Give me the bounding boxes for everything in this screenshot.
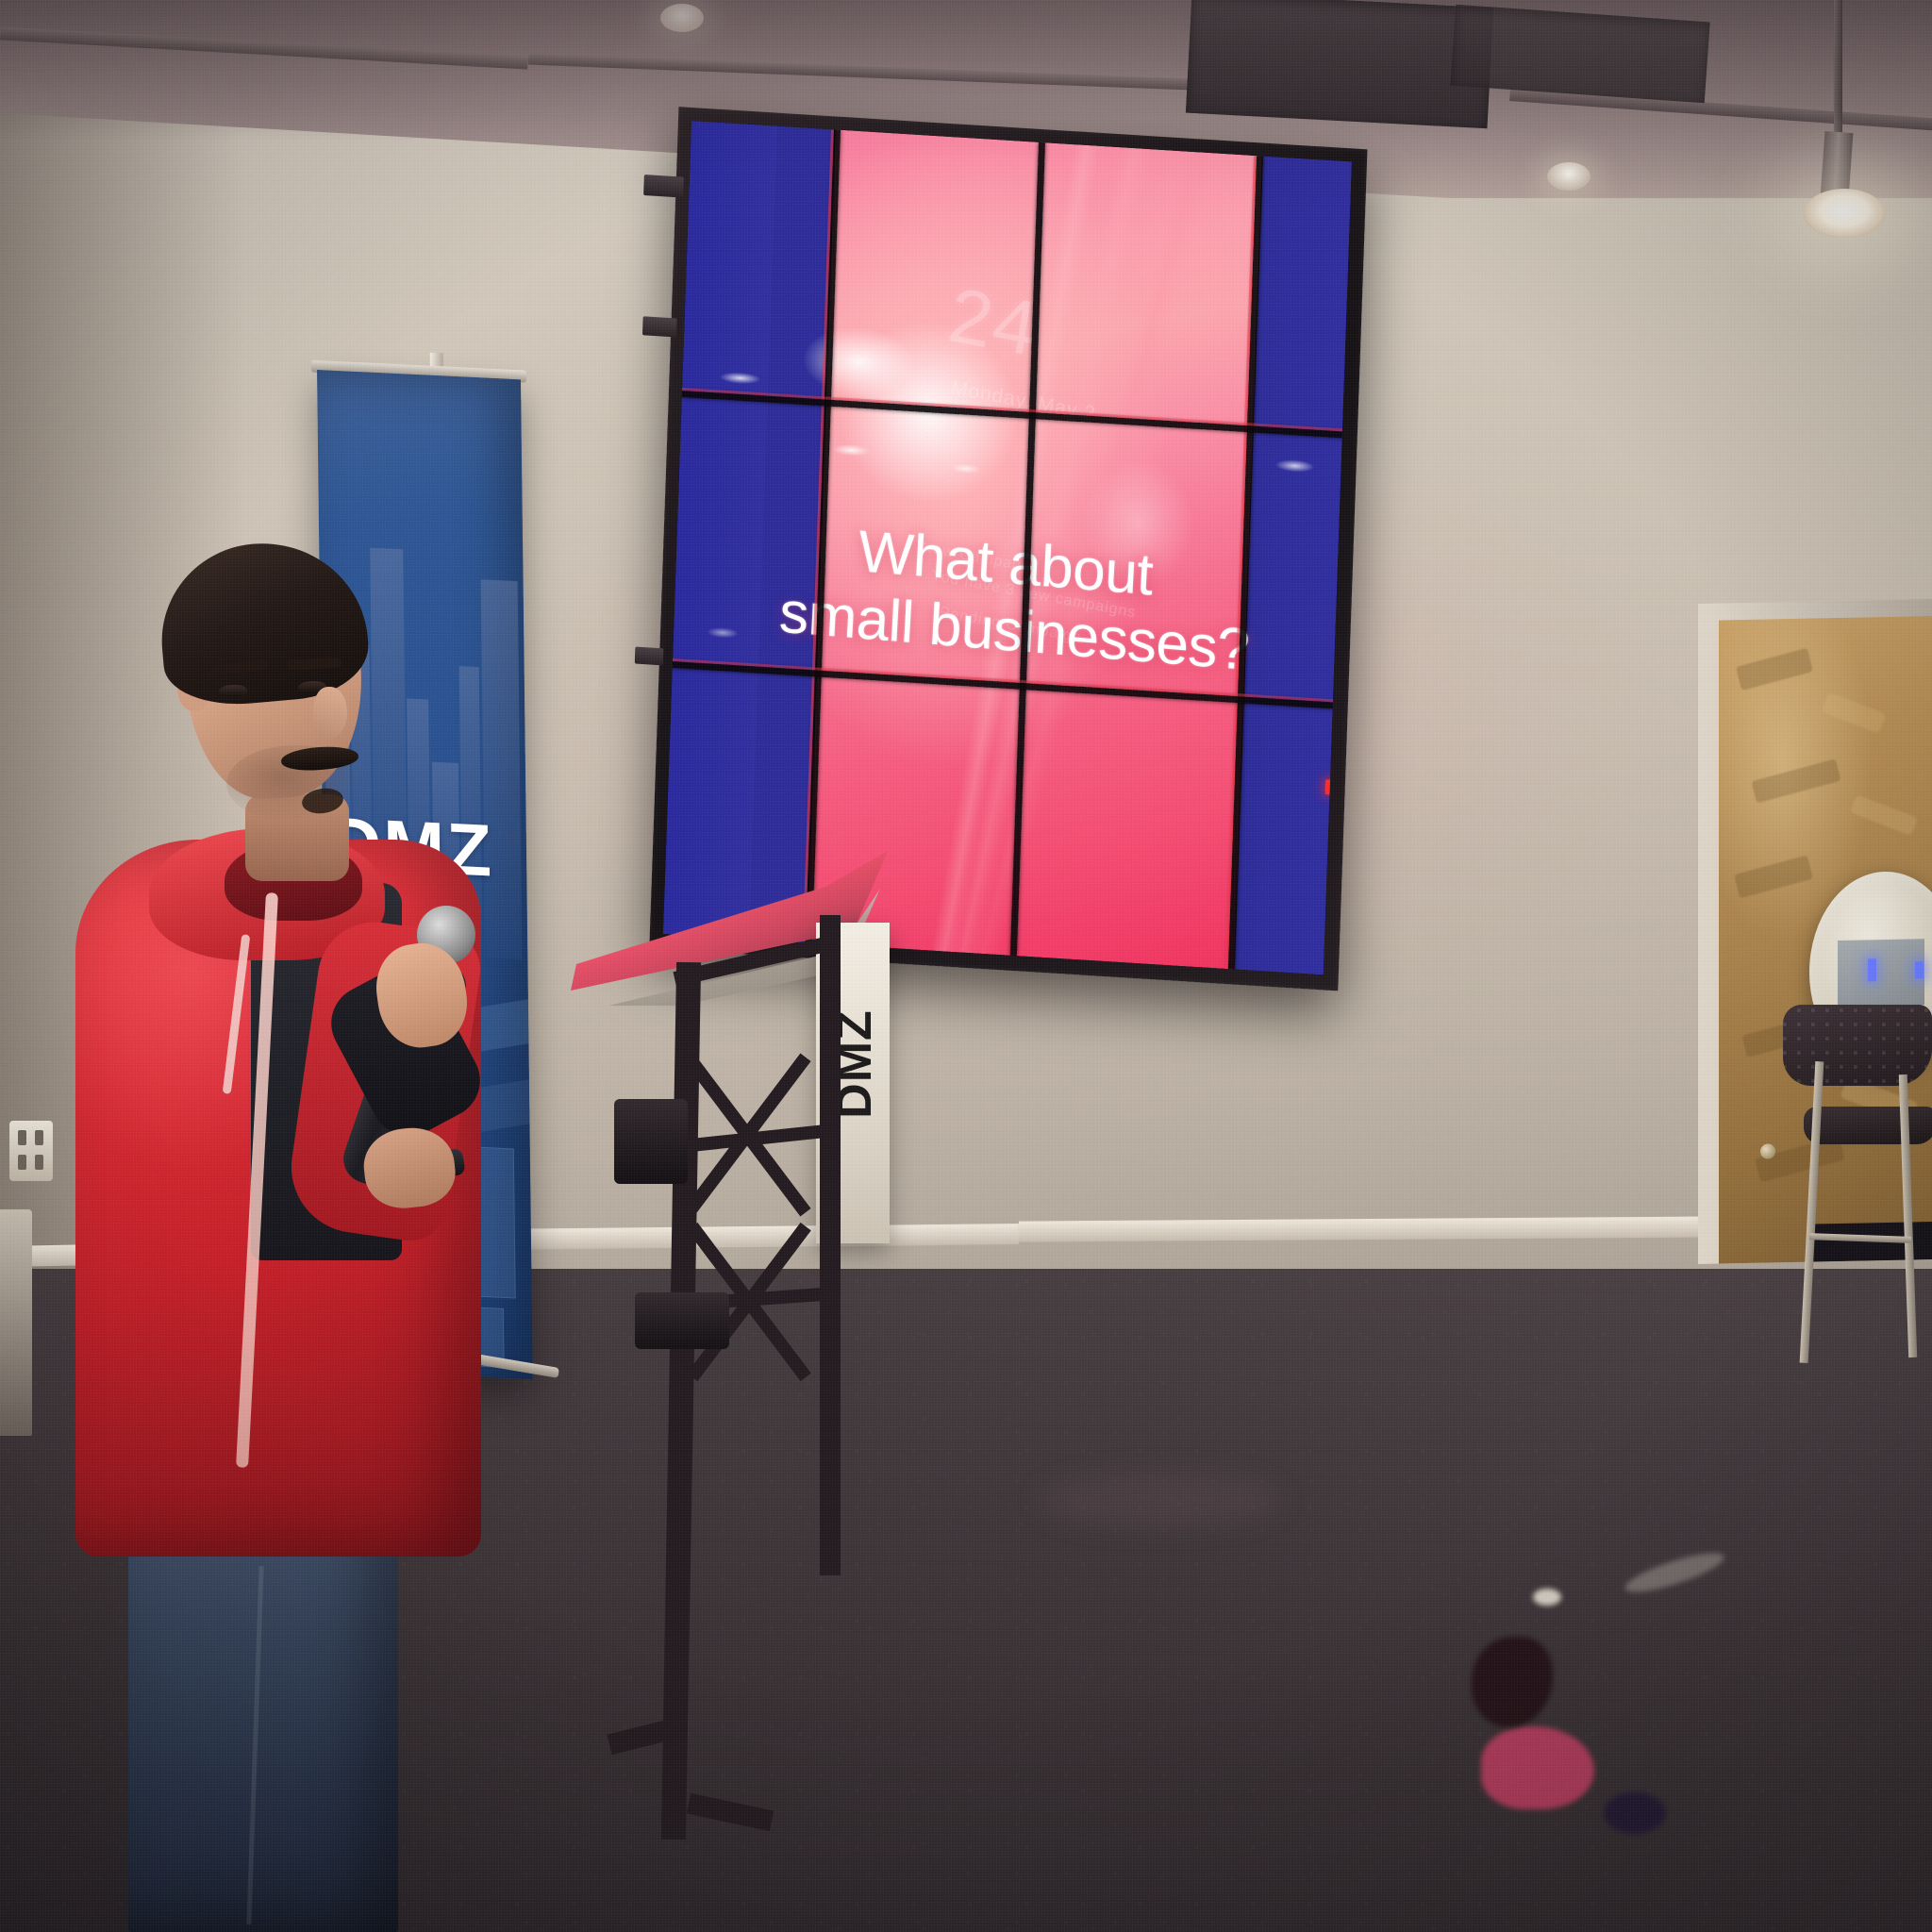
osb-chip: [1734, 855, 1813, 898]
presenter-eye-left: [219, 685, 247, 697]
slide-ghost-time: 24: [942, 271, 1043, 375]
lectern-post-right: [820, 915, 841, 1575]
ceiling-spotlight-secondary: [1547, 162, 1591, 191]
stool-seat: [1804, 1107, 1932, 1144]
lectern-foot-right: [687, 1793, 774, 1831]
screen-reflection-5: [1274, 458, 1314, 474]
lectern-base-plate: [635, 1292, 729, 1349]
presenter-jeans: [128, 1491, 398, 1932]
video-wall-mount-bracket-top: [643, 175, 684, 198]
door-porthole-led-2: [1915, 961, 1924, 978]
lectern-post-left: [661, 962, 701, 1840]
bar-stool[interactable]: [1783, 1005, 1932, 1373]
door-porthole-led-1: [1868, 958, 1876, 981]
osb-chip: [1850, 794, 1918, 836]
osb-chip: [1736, 648, 1813, 691]
floor-paint-splotch-white: [1533, 1589, 1561, 1606]
stool-backrest: [1783, 1005, 1932, 1086]
lectern-base-block: [614, 1099, 688, 1184]
ceiling-spotlight-far: [660, 4, 704, 32]
screen-reflection-3: [707, 627, 739, 640]
outlet-slot-right-lower: [35, 1155, 43, 1170]
video-wall-mount-bracket-mid: [642, 316, 677, 337]
outlet-slot-right: [35, 1130, 43, 1145]
floor-scuff: [1038, 1472, 1283, 1528]
foreground-chair-edge: [0, 1209, 32, 1436]
presenter-hair: [154, 535, 373, 710]
floor-paint-splotch-navy: [1604, 1792, 1666, 1834]
door-porthole-reflection: [1838, 939, 1924, 1007]
stool-rung: [1809, 1233, 1911, 1243]
outlet-slot-left: [18, 1130, 26, 1145]
hvac-duct: [1186, 0, 1493, 128]
screen-reflection-2: [719, 371, 760, 385]
ceiling-spotlight-lamp: [1804, 189, 1885, 238]
osb-chip: [1751, 758, 1840, 803]
video-wall-mount-bracket-low: [635, 647, 664, 666]
ceiling-pipe: [1834, 0, 1842, 151]
osb-chip: [1821, 692, 1886, 734]
wall-power-outlet: [9, 1121, 53, 1181]
presentation-photo-scene: 24 Monday, May 2 New Campaign You have 3…: [0, 0, 1932, 1932]
video-wall-screen[interactable]: 24 Monday, May 2 New Campaign You have 3…: [663, 121, 1352, 974]
presenter-nose: [313, 687, 347, 738]
outlet-slot-left-lower: [18, 1155, 26, 1170]
lectern: DMZ: [580, 849, 891, 1932]
presenter: [66, 528, 500, 1932]
video-wall[interactable]: 24 Monday, May 2 New Campaign You have 3…: [663, 121, 1352, 974]
